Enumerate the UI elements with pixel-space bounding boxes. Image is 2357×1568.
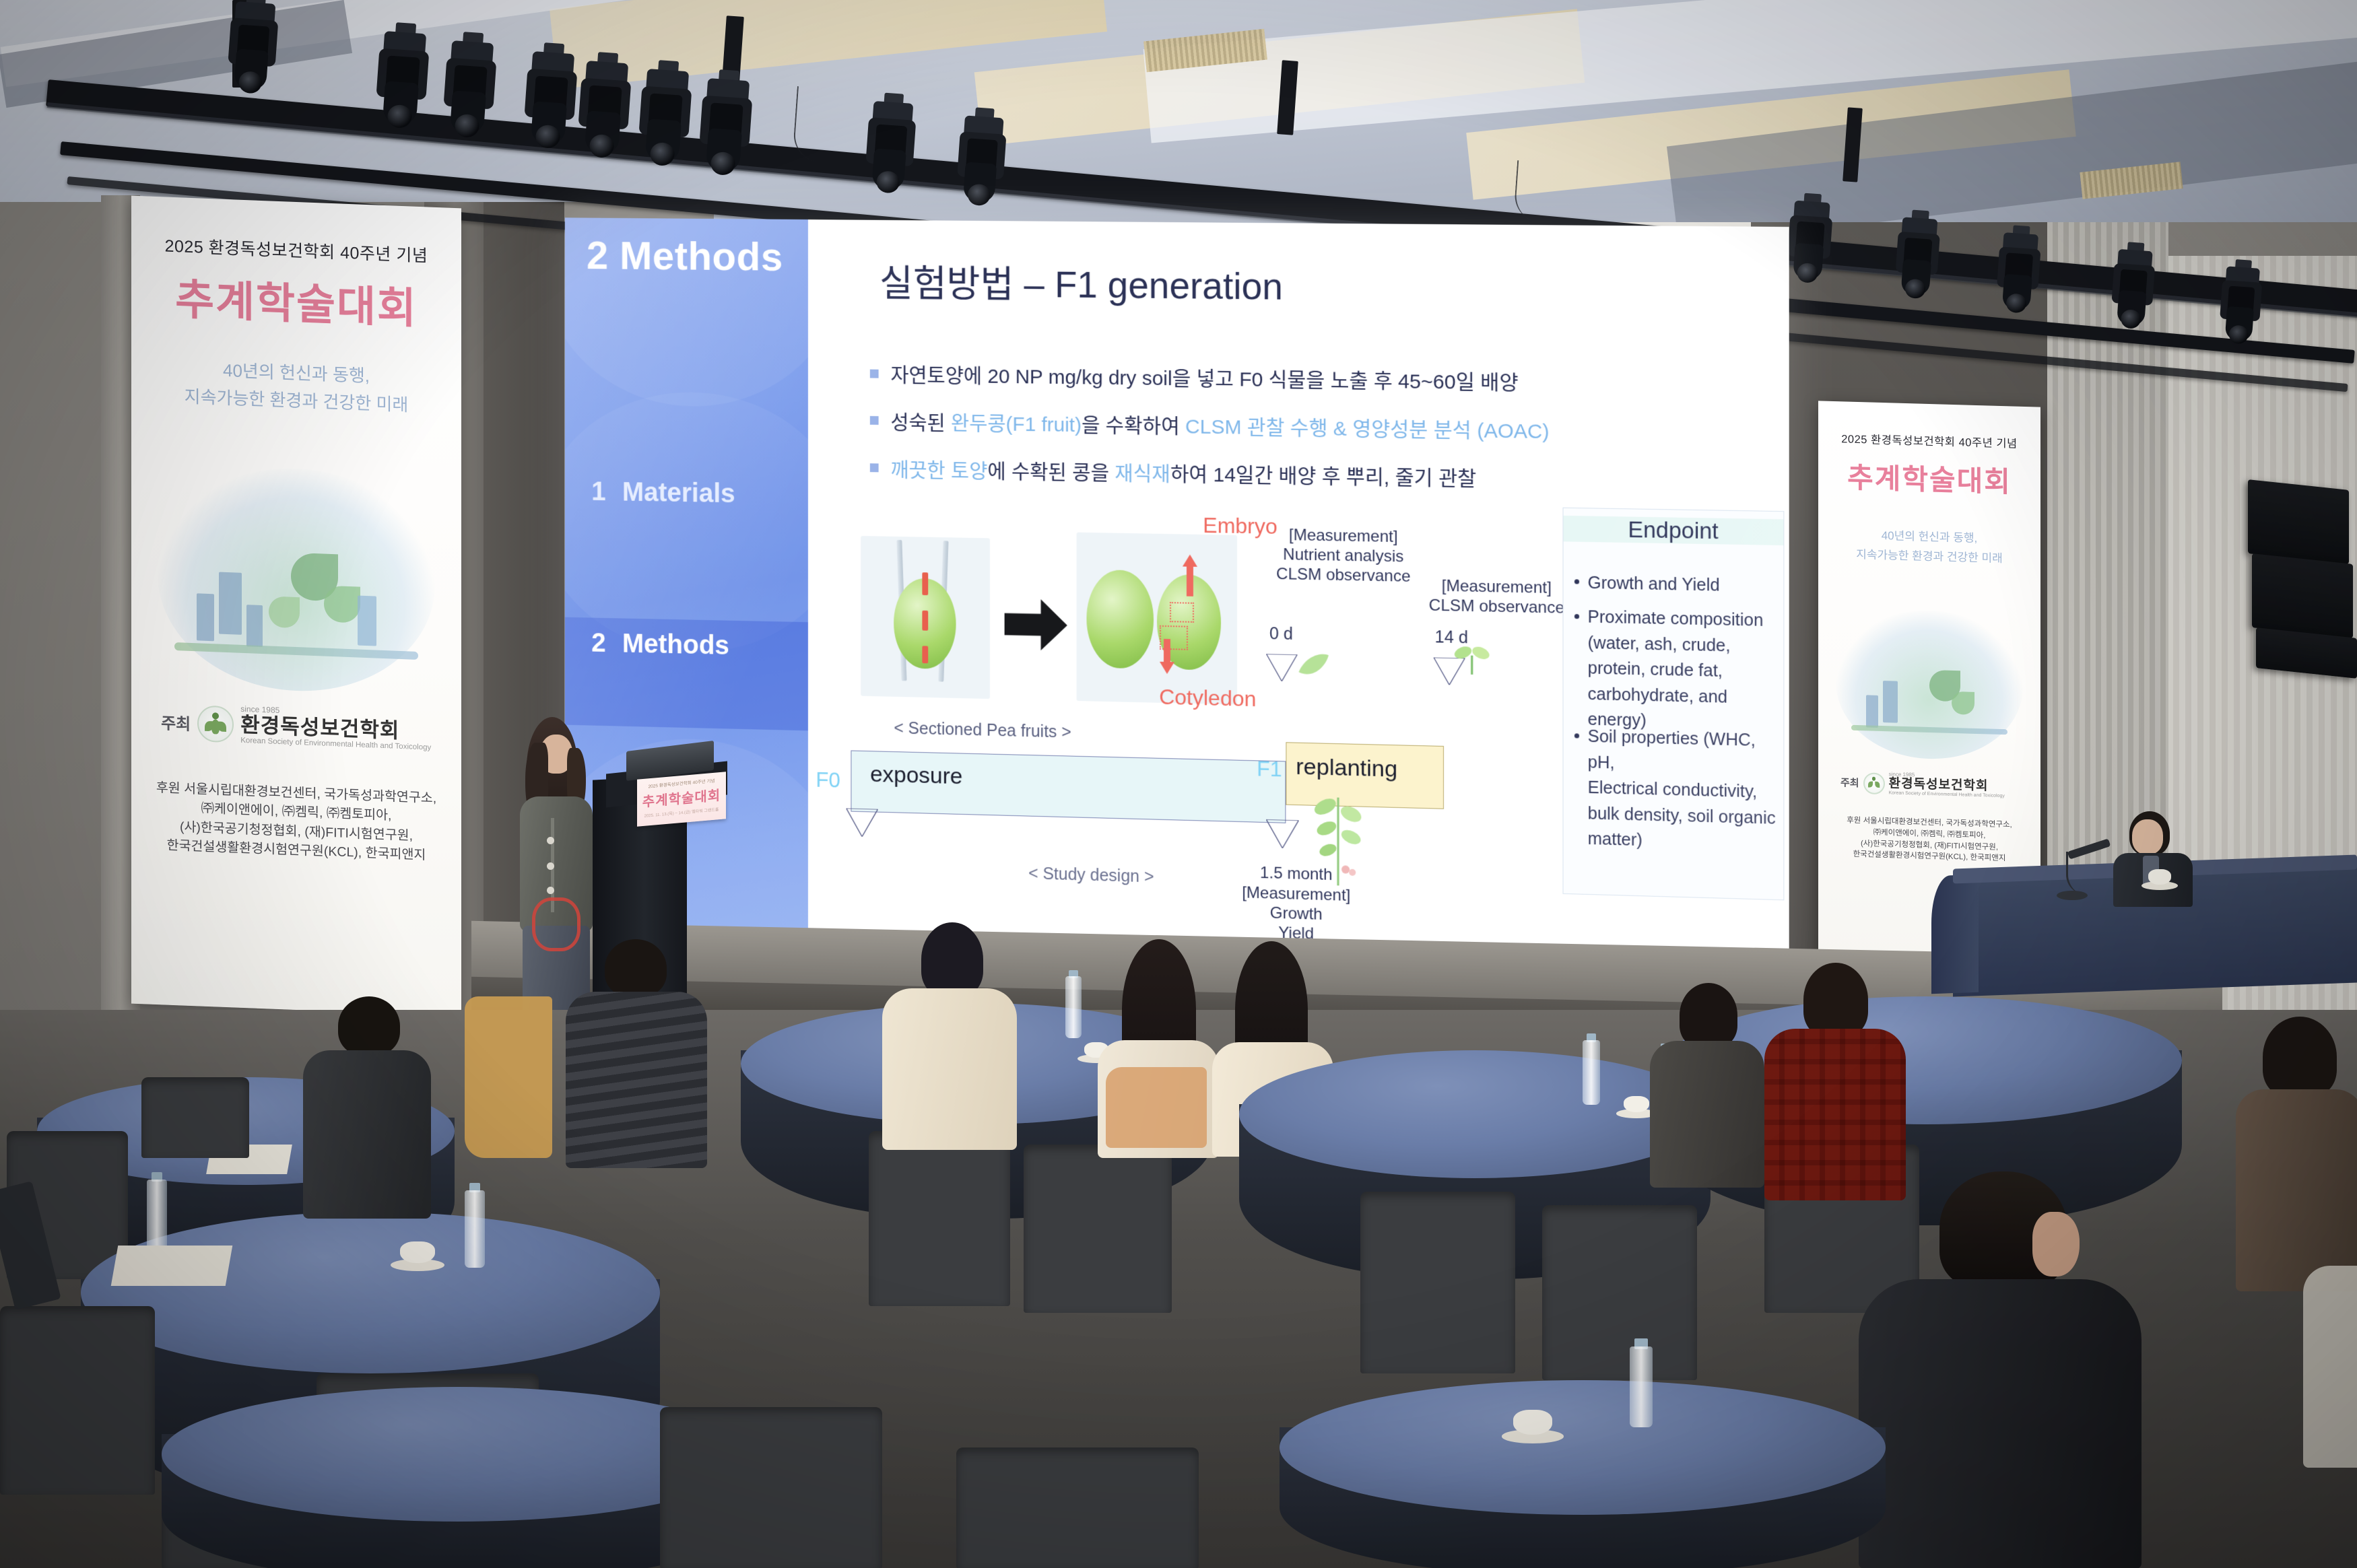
banner-subtitle: 2025 환경독성보건학회 40주년 기념 — [1841, 430, 2017, 450]
cardigan-button — [547, 887, 554, 894]
measurement-0d: [Measurement] Nutrient analysis CLSM obs… — [1276, 525, 1410, 587]
bullet-square-icon — [870, 464, 879, 473]
moving-head-light — [955, 115, 1007, 212]
banner-sponsor-block: 후원 서울시립대환경보건센터, 국가독성과학연구소, ㈜케이앤에이, ㈜켐릭, … — [1827, 815, 2032, 865]
audience-hair — [1803, 963, 1868, 1037]
moderator-head — [2132, 819, 2163, 854]
measurement-line: Growth — [1242, 902, 1350, 925]
moving-head-light — [2218, 266, 2263, 349]
audience-body — [303, 1050, 431, 1219]
moving-head-light — [1894, 217, 1941, 304]
moving-head-light — [522, 51, 578, 156]
audience-body — [1859, 1279, 2142, 1568]
moving-head-light — [1995, 232, 2042, 318]
pea-pod-icon — [1296, 650, 1331, 682]
coffee-cup — [391, 1239, 444, 1271]
rail-item-methods[interactable]: 2 Methods — [591, 629, 729, 662]
presentation-slide: 2 Methods 1 Materials 2 Methods 실험방법 – F… — [565, 217, 1789, 975]
measurement-header: [Measurement] — [1276, 525, 1410, 547]
moving-head-light — [374, 31, 430, 135]
chair — [660, 1407, 882, 1568]
audience-head — [2032, 1212, 2080, 1276]
embryo-label: Embryo — [1203, 512, 1277, 539]
coffee-cup — [2142, 867, 2178, 890]
measurement-line: CLSM observance — [1429, 596, 1564, 619]
bullet-square-icon — [870, 416, 879, 425]
water-bottle — [1065, 976, 1082, 1038]
bullet3-mid: 에 수확된 콩을 — [987, 461, 1115, 485]
society-logo-icon — [197, 705, 234, 743]
rail-item-num: 1 — [591, 477, 605, 507]
pea-photo-right — [1077, 533, 1237, 704]
audience-member — [882, 922, 1017, 1145]
timeline-marker-f0 — [846, 808, 878, 837]
slide-bullet-text: 자연토양에 20 NP mg/kg dry soil을 넣고 F0 식물을 노출… — [890, 358, 1518, 396]
moving-head-light — [2109, 249, 2156, 335]
cardigan-button — [547, 862, 554, 870]
moving-head-light — [226, 1, 279, 100]
banner-sponsor-block: 후원 서울시립대환경보건센터, 국가독성과학연구소, ㈜케이앤에이, ㈜켐릭, … — [145, 778, 449, 865]
cardigan-button — [547, 837, 554, 844]
audience-hair — [1680, 983, 1737, 1048]
water-bottle — [1583, 1040, 1600, 1105]
audience-bag-strap — [1106, 1067, 1207, 1148]
moderator-desk-side — [1931, 875, 1979, 994]
f1-label: F1 — [1257, 757, 1282, 782]
society-logo-icon — [1863, 772, 1885, 794]
audience-body — [882, 988, 1017, 1150]
chair — [141, 1077, 249, 1158]
bullet3-post: 하여 14일간 배양 후 뿌리, 줄기 관찰 — [1170, 463, 1476, 490]
conference-hall-photo: 2025 환경독성보건학회 40주년 기념 추계학술대회 40년의 헌신과 동행… — [0, 0, 2357, 1568]
audience-hair — [338, 996, 400, 1056]
moving-head-light — [863, 100, 917, 199]
line-array-speaker — [2248, 479, 2349, 564]
moving-head-light — [576, 61, 632, 165]
figure-caption: < Sectioned Pea fruits > — [894, 718, 1071, 742]
audience-member — [303, 996, 431, 1219]
endpoint-item-line: matter) — [1588, 827, 1783, 858]
round-table — [81, 1212, 660, 1373]
chair — [869, 1131, 1010, 1306]
moving-head-light — [441, 40, 498, 145]
desk-microphone — [2047, 845, 2101, 899]
endpoint-item-line: protein, crude fat, — [1588, 656, 1783, 686]
audience-member-foreground — [1859, 1171, 2142, 1568]
banner-subtitle: 2025 환경독성보건학회 40주년 기념 — [165, 232, 428, 267]
banner-eco-illustration — [158, 463, 435, 696]
audience-member — [1650, 983, 1764, 1185]
banner-slogan-line1: 40년의 헌신과 동행, — [223, 357, 370, 387]
pea-photo-left — [861, 536, 990, 699]
table-paper — [111, 1246, 233, 1286]
endpoint-item-3: Soil properties (WHC, pH, Electrical con… — [1574, 724, 1783, 858]
truss-cable — [792, 86, 838, 163]
audience-hair — [921, 922, 983, 996]
audience-hair — [605, 939, 667, 997]
bullet2-pre: 성숙된 — [890, 411, 951, 434]
bullet3-hl2: 재식재 — [1115, 463, 1170, 485]
endpoint-header: Endpoint — [1564, 516, 1783, 545]
moving-head-light — [1785, 200, 1834, 289]
exposure-label: exposure — [870, 761, 962, 790]
pea-plant-icon — [1310, 784, 1366, 887]
endpoint-item-1: Growth and Yield — [1574, 570, 1720, 599]
moving-head-light — [697, 78, 754, 182]
bullet2-mid: 을 수확하여 — [1082, 414, 1185, 438]
measurement-header: [Measurement] — [1429, 576, 1564, 598]
f0-label: F0 — [816, 768, 840, 793]
water-bottle — [465, 1190, 485, 1268]
banner-slogan-line1: 40년의 헌신과 동행, — [1882, 526, 1978, 545]
chair — [1360, 1192, 1515, 1373]
measurement-line: Nutrient analysis — [1276, 545, 1410, 567]
foreground-object — [2303, 1266, 2357, 1468]
host-label: 주최 — [1840, 775, 1859, 790]
chair — [1542, 1205, 1697, 1380]
banner-title: 추계학술대회 — [175, 265, 418, 336]
projection-screen: 2 Methods 1 Materials 2 Methods 실험방법 – F… — [565, 217, 1789, 975]
slide-bullet-3: 깨끗한 토양에 수확된 콩을 재식재하여 14일간 배양 후 뿌리, 줄기 관찰 — [870, 452, 1476, 491]
banner-slogan-line2: 지속가능한 환경과 건강한 미래 — [185, 382, 409, 416]
audience-body — [566, 992, 707, 1168]
bullet-square-icon — [870, 369, 879, 378]
seedling-icon — [1454, 639, 1491, 677]
banner-eco-illustration — [1836, 608, 2022, 761]
endpoint-item-line: Soil properties (WHC, pH, — [1588, 724, 1783, 780]
bullet-dot-icon — [1574, 614, 1579, 619]
bullet2-hl2: CLSM 관찰 수행 & 영양성분 분석 (AOAC) — [1185, 415, 1549, 443]
slide-bullet-1: 자연토양에 20 NP mg/kg dry soil을 넣고 F0 식물을 노출… — [870, 358, 1519, 396]
slide-section-title: 2 Methods — [587, 232, 783, 279]
timeline-marker-1-5-month — [1267, 819, 1299, 848]
banner-title: 추계학술대회 — [1847, 454, 2012, 500]
endpoint-item-line: Proximate composition — [1588, 605, 1783, 635]
chair — [1024, 1145, 1172, 1313]
bullet3-hl: 깨끗한 토양 — [890, 459, 987, 483]
podium-sign: 2025 환경독성보건학회 40주년 기념 추계학술대회 2025. 11. 1… — [637, 772, 726, 827]
measurement-14d: [Measurement] CLSM observance — [1429, 576, 1564, 618]
endpoint-item-text: Growth and Yield — [1588, 570, 1720, 599]
rail-item-num: 2 — [591, 629, 605, 658]
audience-coat-on-chair — [465, 996, 552, 1158]
measurement-header: [Measurement] — [1242, 883, 1350, 906]
moving-head-light — [636, 69, 693, 173]
audience-member — [2236, 1017, 2357, 1286]
host-label: 주최 — [161, 710, 191, 735]
study-design-caption: < Study design > — [1028, 864, 1154, 887]
left-event-banner: 2025 환경독성보건학회 40주년 기념 추계학술대회 40년의 헌신과 동행… — [131, 196, 461, 1017]
endpoint-item-2: Proximate composition (water, ash, crude… — [1574, 605, 1783, 737]
endpoint-item-line: (water, ash, crude, — [1588, 631, 1783, 660]
replanting-label: replanting — [1296, 754, 1397, 783]
bullet-dot-icon — [1574, 580, 1579, 584]
audience-body — [1650, 1041, 1764, 1188]
process-arrow-icon — [1004, 597, 1067, 653]
slide-bullet-2: 성숙된 완두콩(F1 fruit)을 수확하여 CLSM 관찰 수행 & 영양성… — [870, 405, 1550, 444]
banner-host-row: 주최 since 1985 환경독성보건학회 Korean Society of… — [1840, 770, 2005, 798]
endpoint-box: Endpoint Growth and Yield Proximate comp… — [1563, 508, 1784, 900]
audience-hair — [2263, 1017, 2337, 1097]
bullet2-hl: 완두콩(F1 fruit) — [951, 413, 1082, 437]
slide-title: 실험방법 – F1 generation — [879, 252, 1283, 310]
cotyledon-label: Cotyledon — [1159, 684, 1256, 711]
rail-item-label: Materials — [622, 478, 735, 509]
slide-content: 실험방법 – F1 generation 자연토양에 20 NP mg/kg d… — [808, 219, 1789, 976]
measurement-line: CLSM observance — [1276, 564, 1410, 586]
audience-member — [1764, 963, 1906, 1198]
chair — [0, 1306, 155, 1495]
embryo-marker-box — [1170, 602, 1194, 623]
rail-item-materials[interactable]: 1 Materials — [591, 477, 735, 510]
water-bottle — [1630, 1347, 1653, 1427]
audience-member — [566, 939, 707, 1168]
timeline-marker-0d — [1267, 654, 1298, 681]
coffee-cup — [1502, 1407, 1564, 1443]
audience-body — [2236, 1089, 2357, 1291]
bullet-dot-icon — [1574, 734, 1579, 739]
banner-host-row: 주최 since 1985 환경독성보건학회 Korean Society of… — [161, 702, 431, 752]
audience-member — [1098, 939, 1219, 1155]
rail-item-label: Methods — [622, 629, 729, 660]
chair — [956, 1447, 1199, 1568]
line-array-speaker — [2252, 553, 2353, 638]
banner-slogan-line2: 지속가능한 환경과 건강한 미래 — [1856, 545, 2003, 566]
round-table — [1280, 1380, 1886, 1515]
day-label-0d: 0 d — [1269, 624, 1293, 644]
